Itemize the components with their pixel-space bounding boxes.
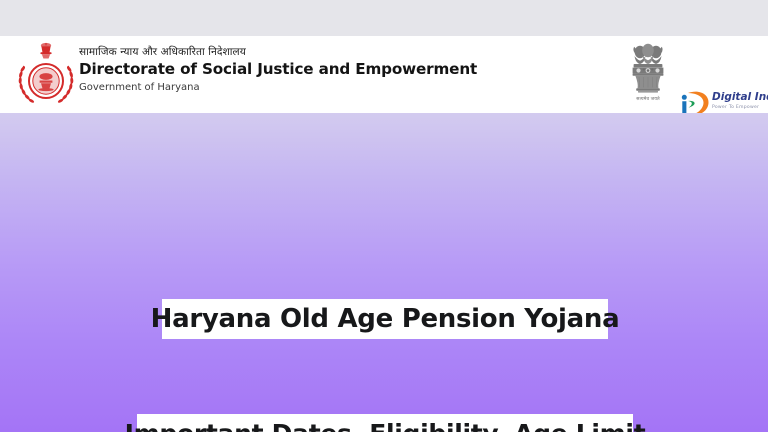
page-title: Haryana Old Age Pension Yojana — [162, 299, 608, 339]
top-grey-strip — [0, 0, 768, 36]
digital-india-title: Digital India — [712, 92, 768, 103]
page-subtitle: Important Dates, Eligibility, Age Limit — [137, 414, 633, 432]
header-text-block: सामाजिक न्याय और अधिकारिता निदेशालय Dire… — [79, 45, 499, 95]
header-hindi-title: सामाजिक न्याय और अधिकारिता निदेशालय — [79, 45, 499, 59]
header-english-title: Directorate of Social Justice and Empowe… — [79, 60, 499, 79]
page-root: सामाजिक न्याय और अधिकारिता निदेशालय Dire… — [0, 0, 768, 432]
digital-india-tagline: Power To Empower — [712, 104, 768, 111]
ashoka-motto-text: सत्यमेव जयते — [627, 96, 669, 102]
site-header: सामाजिक न्याय और अधिकारिता निदेशालय Dire… — [0, 36, 768, 113]
header-government-line: Government of Haryana — [79, 81, 499, 95]
haryana-emblem-icon — [16, 40, 76, 108]
digital-india-text-block: Digital India Power To Empower — [712, 92, 768, 111]
hero-banner: Haryana Old Age Pension Yojana Important… — [0, 113, 768, 432]
